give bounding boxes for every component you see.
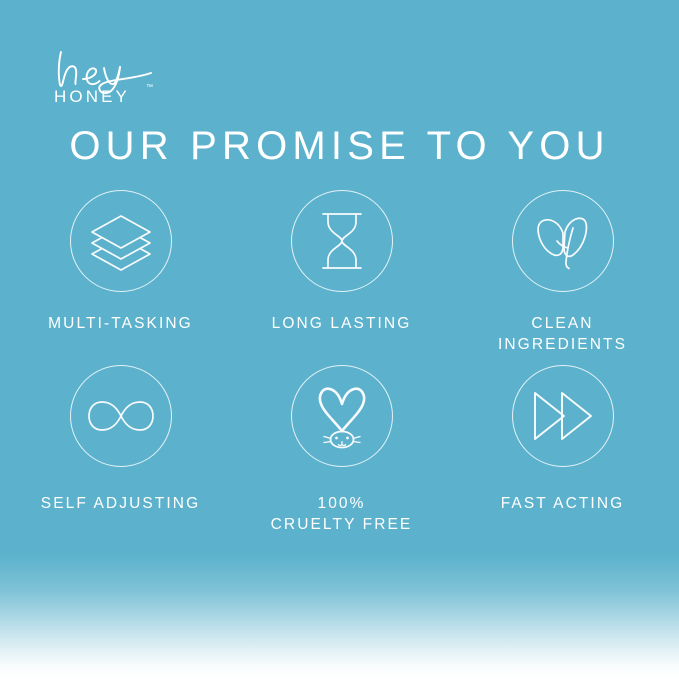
promise-row: SELF ADJUSTING (0, 365, 679, 540)
promise-label: CLEAN INGREDIENTS (498, 314, 627, 356)
icon-circle (70, 365, 172, 467)
icon-circle (512, 190, 614, 292)
promise-item-fast-acting: FAST ACTING (452, 365, 679, 540)
trademark-symbol: ™ (146, 84, 153, 91)
icon-circle (512, 365, 614, 467)
icon-circle (291, 365, 393, 467)
promise-item-clean-ingredients: CLEAN INGREDIENTS (452, 190, 679, 365)
brand-logo: HONEY ™ (52, 46, 232, 116)
promise-graphic: HONEY ™ OUR PROMISE TO YOU MULTI-TASKING (0, 0, 679, 679)
promise-grid: MULTI-TASKING LONG LASTING (0, 190, 679, 540)
fast-forward-icon (532, 390, 594, 442)
icon-circle (291, 190, 393, 292)
infinity-icon (86, 399, 156, 433)
promise-item-multi-tasking: MULTI-TASKING (0, 190, 231, 365)
icon-circle (70, 190, 172, 292)
promise-label: LONG LASTING (272, 314, 412, 335)
leaves-icon (532, 210, 594, 272)
promise-item-cruelty-free: 100% CRUELTY FREE (231, 365, 452, 540)
hourglass-icon (314, 210, 370, 272)
bunny-heart-icon (307, 381, 377, 451)
promise-label: 100% CRUELTY FREE (271, 494, 413, 536)
brand-wordmark: HONEY (54, 88, 130, 105)
page-title: OUR PROMISE TO YOU (0, 124, 679, 168)
promise-item-long-lasting: LONG LASTING (231, 190, 452, 365)
promise-row: MULTI-TASKING LONG LASTING (0, 190, 679, 365)
promise-label: FAST ACTING (501, 494, 625, 515)
promise-label: SELF ADJUSTING (41, 494, 200, 515)
promise-label: MULTI-TASKING (48, 314, 193, 335)
promise-item-self-adjusting: SELF ADJUSTING (0, 365, 231, 540)
layers-icon (88, 211, 154, 271)
